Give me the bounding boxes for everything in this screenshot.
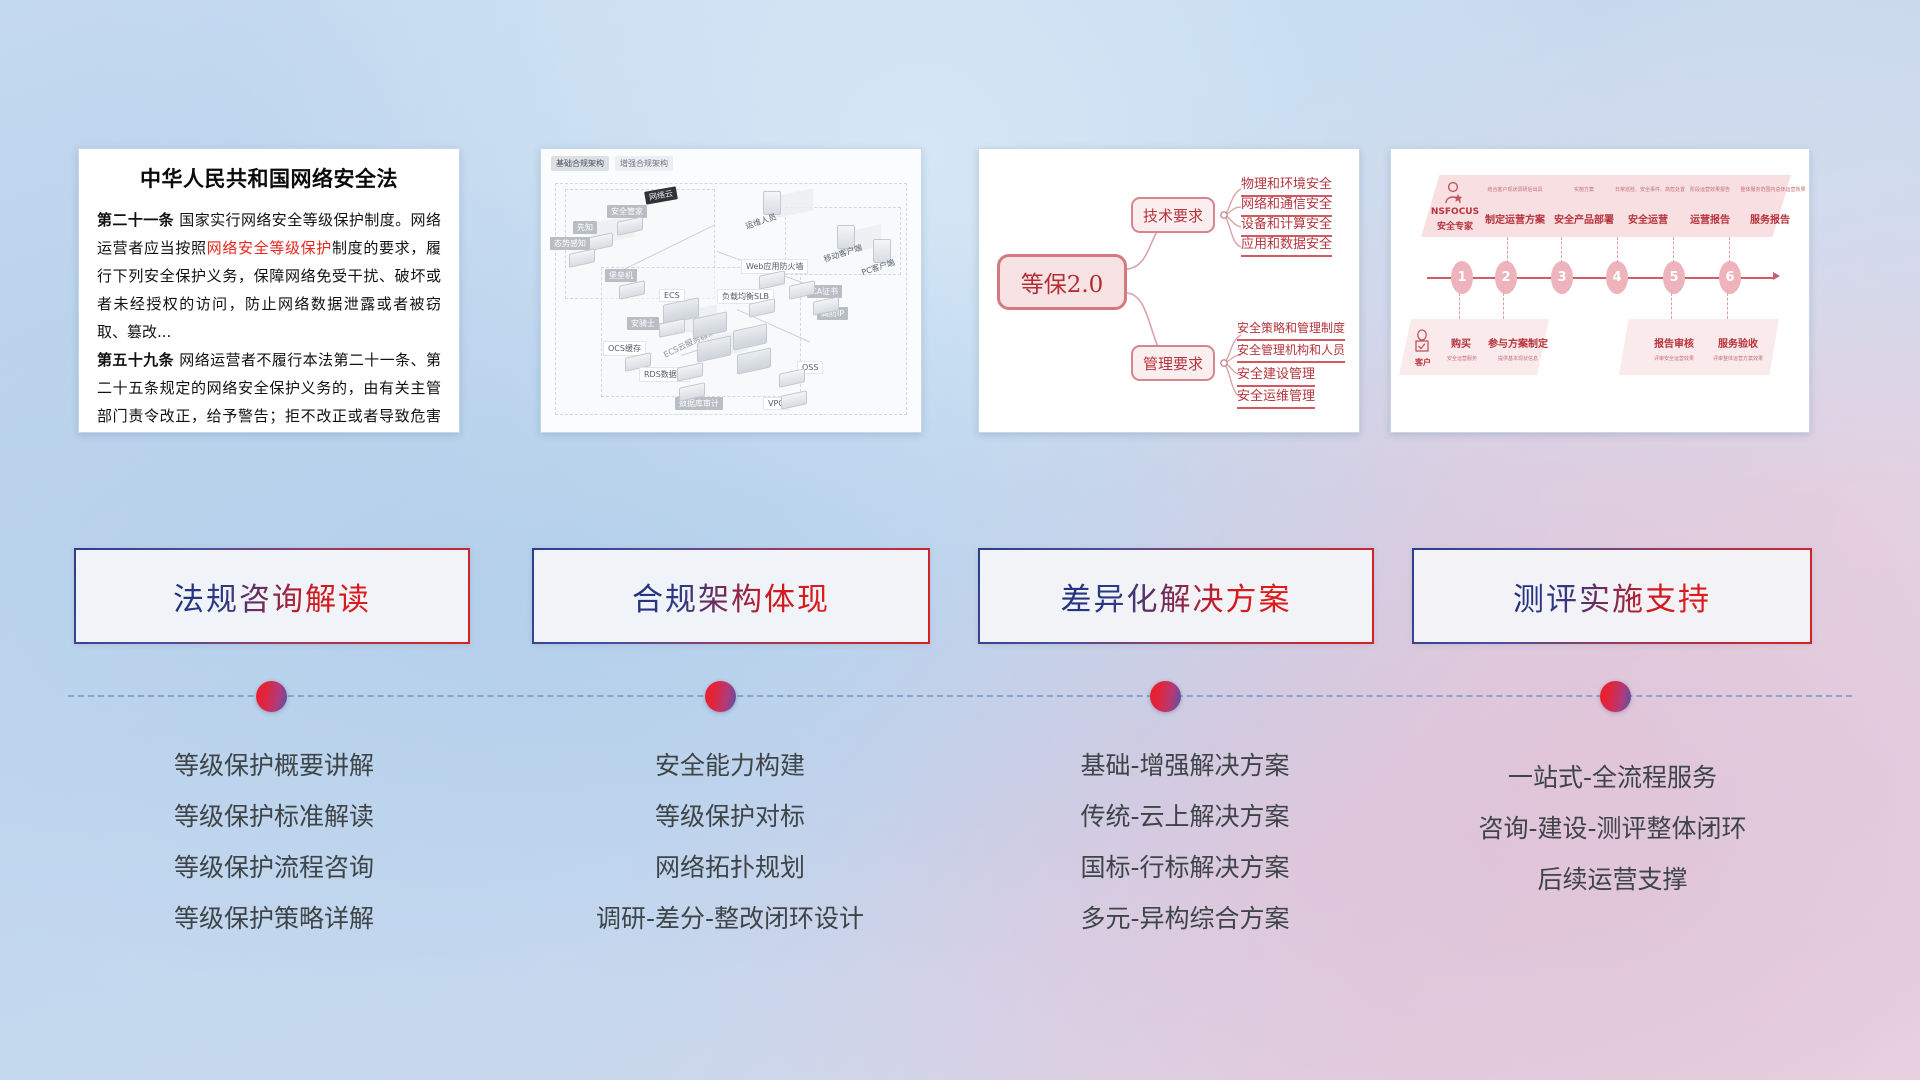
- mindmap-leaf-security-policy: 安全策略和管理制度: [1237, 319, 1345, 341]
- card-cybersecurity-law[interactable]: 中华人民共和国网络安全法 第二十一条 国家实行网络安全等级保护制度。网络运营者应…: [78, 148, 460, 433]
- list-item: 等级保护标准解读: [74, 791, 474, 842]
- top-sub-1: 结合客户现状调研后出具: [1477, 186, 1553, 193]
- list-item: 多元-异构综合方案: [975, 893, 1395, 944]
- title-box-differentiated-solution[interactable]: 差异化解决方案: [978, 548, 1374, 644]
- timeline-dashed-line: [68, 695, 1852, 697]
- bottom-main-3: 报告审核: [1645, 335, 1703, 350]
- step-number-3: 3: [1551, 261, 1573, 294]
- connector-dash-6: [1729, 237, 1730, 263]
- section-titles-row: 法规咨询解读 合规架构体现 差异化解决方案 测评实施支持: [0, 548, 1920, 646]
- list-item: 后续运营支撑: [1400, 854, 1825, 905]
- list-item: 等级保护概要讲解: [74, 740, 474, 791]
- list-item: 咨询-建设-测评整体闭环: [1400, 803, 1825, 854]
- top-main-3: 安全运营: [1613, 211, 1683, 226]
- title-box-regulation-consulting[interactable]: 法规咨询解读: [74, 548, 470, 644]
- bottom-sub-4: 评审整体运营方案效果: [1701, 355, 1775, 362]
- mindmap-leaf-app-data: 应用和数据安全: [1241, 233, 1332, 257]
- nsfocus-timeline: NSFOCUS 安全专家 结合客户现状调研后出具 制定运营方案 实施方案 安全产…: [1391, 149, 1809, 432]
- mindmap-leaf-security-org: 安全管理机构和人员: [1237, 341, 1345, 363]
- title-box-assessment-support[interactable]: 测评实施支持: [1412, 548, 1812, 644]
- list-item: 国标-行标解决方案: [975, 842, 1395, 893]
- mindmap-branch-technical: 技术要求: [1131, 197, 1215, 233]
- step-number-4: 4: [1606, 261, 1628, 294]
- connector-dash-5: [1673, 237, 1674, 263]
- bottom-main-4: 服务验收: [1709, 335, 1767, 350]
- bottom-sub-1: 安全运营服务: [1435, 355, 1489, 362]
- title-label-3: 差异化解决方案: [1061, 574, 1292, 619]
- connector-dash-3: [1561, 237, 1562, 263]
- connector-dash-b5: [1671, 293, 1672, 319]
- step-number-2: 2: [1495, 261, 1517, 294]
- list-item: 安全能力构建: [520, 740, 940, 791]
- label-anqishi: 安骑士: [627, 317, 659, 330]
- expert-role-label: 安全专家: [1427, 219, 1483, 232]
- label-situational-awareness: 态势感知: [550, 237, 590, 250]
- bottom-main-2: 参与方案制定: [1483, 335, 1553, 350]
- tab-enhanced-architecture[interactable]: 增强合规架构: [615, 156, 673, 171]
- mindmap-branch-management: 管理要求: [1131, 345, 1215, 381]
- top-main-2: 安全产品部署: [1546, 211, 1622, 226]
- connector-dash-2: [1507, 237, 1508, 263]
- mindmap-leaf-build-mgmt: 安全建设管理: [1237, 363, 1315, 387]
- step-number-5: 5: [1663, 261, 1685, 294]
- article-59-label: 第五十九条: [97, 351, 174, 369]
- bottom-sub-3: 评审安全运营效果: [1641, 355, 1707, 362]
- timeline-dot-3[interactable]: [1150, 681, 1181, 712]
- list-item: 基础-增强解决方案: [975, 740, 1395, 791]
- label-xianzhi: 先知: [573, 221, 597, 234]
- title-label-1: 法规咨询解读: [173, 574, 371, 619]
- tab-basic-architecture[interactable]: 基础合规架构: [551, 156, 609, 171]
- timeline-arrow-icon: [1773, 272, 1780, 280]
- expert-brand-label: NSFOCUS: [1427, 207, 1483, 217]
- list-item: 一站式-全流程服务: [1400, 752, 1825, 803]
- list-item: 网络拓扑规划: [520, 842, 940, 893]
- timeline-dot-2[interactable]: [705, 681, 736, 712]
- title-label-2: 合规架构体现: [632, 574, 830, 619]
- timeline-dot-4[interactable]: [1600, 681, 1631, 712]
- architecture-diagram: 基础合规架构 增强合规架构 网络云 安全管家 先知 态势感知: [541, 149, 921, 432]
- title-box-compliance-architecture[interactable]: 合规架构体现: [532, 548, 930, 644]
- bottom-sub-2: 提供基本现状信息: [1485, 355, 1551, 362]
- article-21-highlight: 网络安全等级保护: [207, 239, 332, 257]
- list-item: 等级保护对标: [520, 791, 940, 842]
- law-article-21: 第二十一条 国家实行网络安全等级保护制度。网络运营者应当按照网络安全等级保护制度…: [97, 206, 441, 346]
- article-21-label: 第二十一条: [97, 211, 174, 229]
- bottom-main-1: 购买: [1441, 335, 1481, 350]
- title-label-4: 测评实施支持: [1513, 574, 1711, 619]
- expert-avatar-icon: [1443, 181, 1463, 205]
- architecture-tabs: 基础合规架构 增强合规架构: [551, 156, 673, 171]
- customer-avatar-icon: [1413, 329, 1431, 355]
- connector-dash-b2: [1503, 293, 1504, 319]
- feature-list-4: 一站式-全流程服务 咨询-建设-测评整体闭环 后续运营支撑: [1400, 752, 1825, 905]
- list-item: 等级保护策略详解: [74, 893, 474, 944]
- top-main-5: 服务报告: [1735, 211, 1805, 226]
- image-cards-row: 中华人民共和国网络安全法 第二十一条 国家实行网络安全等级保护制度。网络运营者应…: [0, 148, 1920, 448]
- list-item: 调研-差分-整改闭环设计: [520, 893, 940, 944]
- feature-list-2: 安全能力构建 等级保护对标 网络拓扑规划 调研-差分-整改闭环设计: [520, 740, 940, 944]
- label-bastion-host: 堡垒机: [605, 269, 637, 282]
- card-mindmap-dengbao[interactable]: 等保2.0 技术要求 管理要求 物理和环境安全 网络和通信安全 设备和计算安全 …: [978, 148, 1360, 433]
- timeline-dot-1[interactable]: [256, 681, 287, 712]
- law-title: 中华人民共和国网络安全法: [97, 163, 441, 193]
- mindmap-root: 等保2.0: [997, 254, 1127, 310]
- connector-dash-b6: [1727, 293, 1728, 319]
- law-article-59: 第五十九条 网络运营者不履行本法第二十一条、第二十五条规定的网络安全保护义务的，…: [97, 346, 441, 433]
- card-nsfocus-service-timeline[interactable]: NSFOCUS 安全专家 结合客户现状调研后出具 制定运营方案 实施方案 安全产…: [1390, 148, 1810, 433]
- connector-dash-1: [1459, 293, 1460, 319]
- step-number-6: 6: [1719, 261, 1741, 294]
- feature-list-3: 基础-增强解决方案 传统-云上解决方案 国标-行标解决方案 多元-异构综合方案: [975, 740, 1395, 944]
- connector-dash-4: [1617, 237, 1618, 263]
- mindmap: 等保2.0 技术要求 管理要求 物理和环境安全 网络和通信安全 设备和计算安全 …: [979, 149, 1359, 432]
- list-item: 传统-云上解决方案: [975, 791, 1395, 842]
- mindmap-leaf-ops-mgmt: 安全运维管理: [1237, 385, 1315, 409]
- law-text-block: 中华人民共和国网络安全法 第二十一条 国家实行网络安全等级保护制度。网络运营者应…: [79, 149, 459, 433]
- step-number-1: 1: [1451, 261, 1473, 294]
- list-item: 等级保护流程咨询: [74, 842, 474, 893]
- feature-list-1: 等级保护概要讲解 等级保护标准解读 等级保护流程咨询 等级保护策略详解: [74, 740, 474, 944]
- top-sub-5: 整体服务范围内总体运营效果: [1723, 186, 1810, 193]
- card-compliance-architecture[interactable]: 基础合规架构 增强合规架构 网络云 安全管家 先知 态势感知: [540, 148, 922, 433]
- top-main-1: 制定运营方案: [1477, 211, 1553, 226]
